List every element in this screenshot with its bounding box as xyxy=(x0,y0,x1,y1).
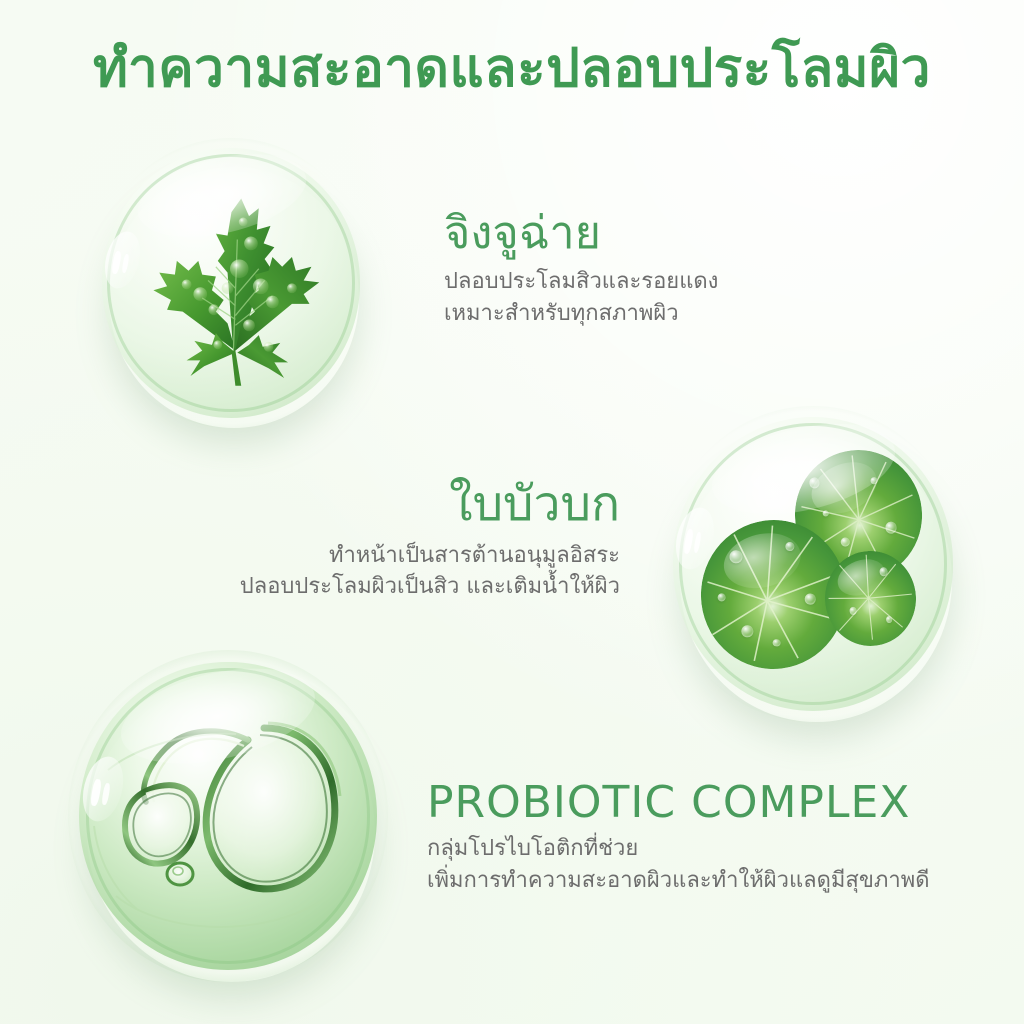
ingredient-benefit-line: เหมาะสำหรับทุกสภาพผิว xyxy=(444,298,718,329)
ingredient-benefit-line: ทำหน้าเป็นสารต้านอนุมูลอิสระ xyxy=(240,540,620,571)
centella-leaf-icon xyxy=(823,549,918,648)
ingredient-benefit-line: กลุ่มโปรไบโอติกที่ช่วย xyxy=(427,833,930,864)
page-title: ทำความสะอาดและปลอบประโลมผิว xyxy=(0,38,1024,101)
ingredient-benefit-line: ปลอบประโลมสิวและรอยแดง xyxy=(444,266,718,297)
ingredient-image-centella xyxy=(662,406,964,722)
infographic-stage: ทำความสะอาดและปลอบประโลมผิว xyxy=(0,0,1024,1024)
ingredient-name-centella: ใบบัวบก xyxy=(240,478,620,532)
ingredient-image-celery xyxy=(92,138,370,428)
ingredient-name-probiotic: PROBIOTIC COMPLEX xyxy=(427,778,930,827)
ingredient-benefit-line: ปลอบประโลมผิวเป็นสิว และเติมน้ำให้ผิว xyxy=(240,571,620,602)
ingredient-text-probiotic: PROBIOTIC COMPLEX กลุ่มโปรไบโอติกที่ช่วย… xyxy=(427,778,930,896)
ingredient-image-probiotic xyxy=(68,650,388,982)
ingredient-text-centella: ใบบัวบก ทำหน้าเป็นสารต้านอนุมูลอิสระ ปลอ… xyxy=(240,478,620,602)
ingredient-text-celery: จิงจูฉ่าย ปลอบประโลมสิวและรอยแดง เหมาะสำ… xyxy=(444,208,718,329)
ingredient-benefit-line: เพิ่มการทำความสะอาดผิวและทำให้ผิวแลดูมีส… xyxy=(427,865,930,896)
ingredient-name-celery: จิงจูฉ่าย xyxy=(444,208,718,258)
